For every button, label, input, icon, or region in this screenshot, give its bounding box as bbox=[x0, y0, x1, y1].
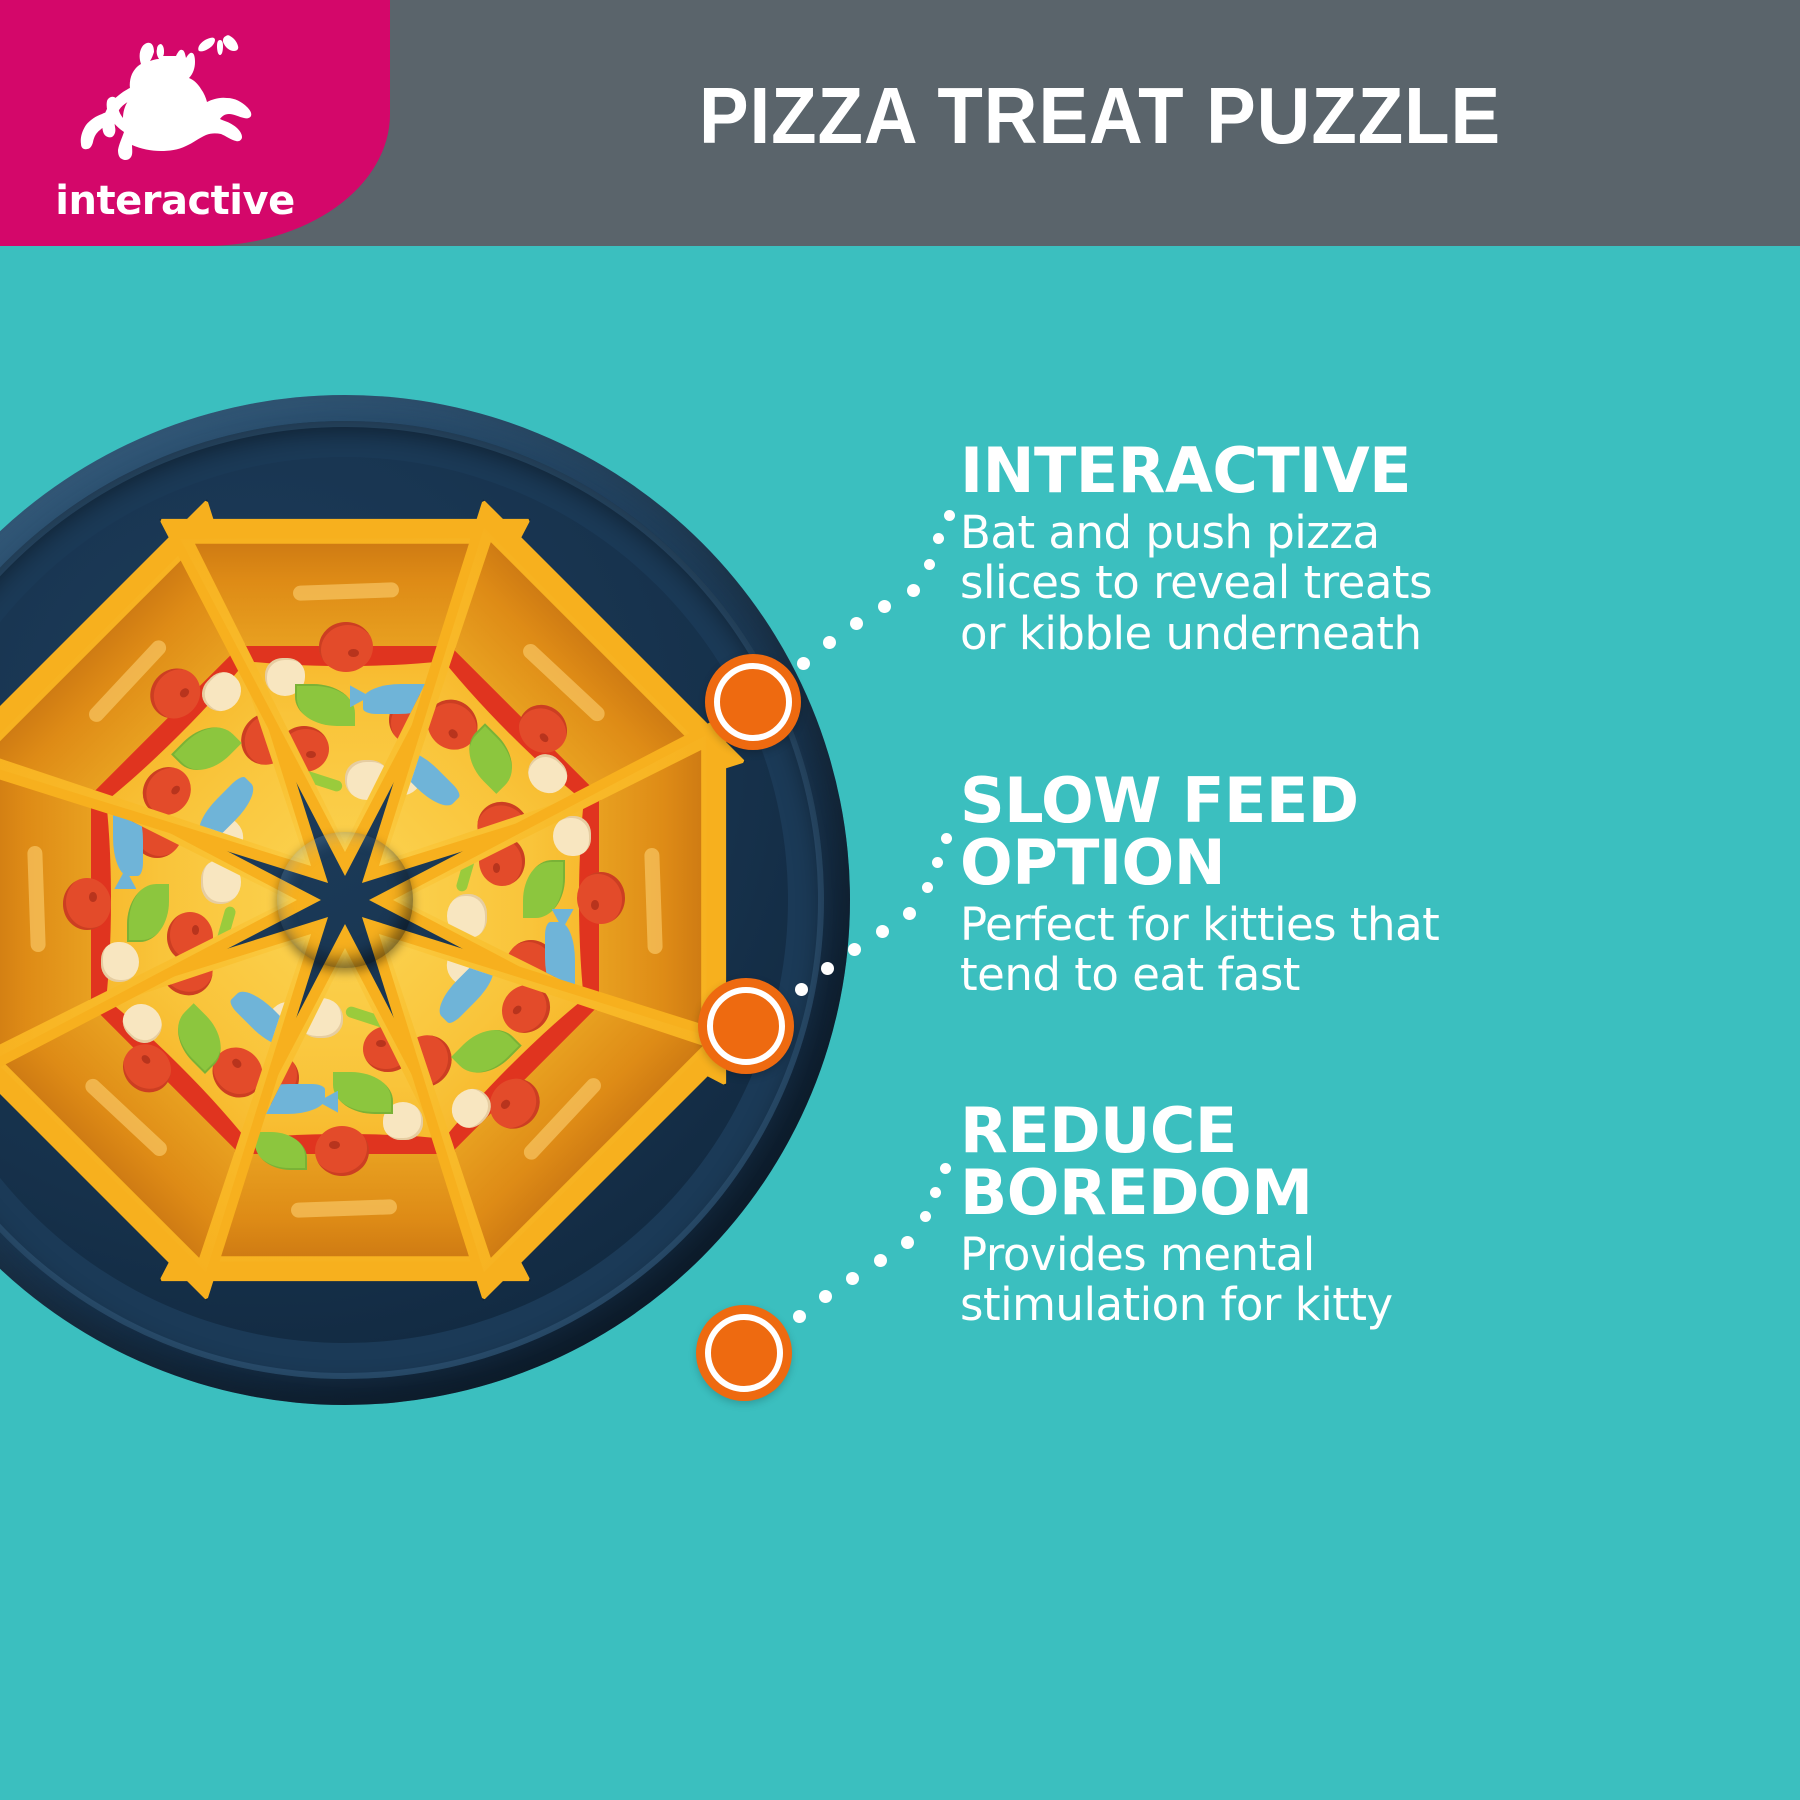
leaping-cat-with-butterfly-icon bbox=[52, 30, 312, 162]
toy-center-hub bbox=[277, 832, 413, 968]
interactive-badge: interactive bbox=[0, 0, 390, 246]
feature-block-slow-feed-option: SLOW FEED OPTION Perfect for kitties tha… bbox=[960, 770, 1480, 1001]
feature-heading: INTERACTIVE bbox=[960, 440, 1480, 502]
product-image-pizza-puzzle bbox=[0, 395, 850, 1405]
feature-marker-3[interactable] bbox=[696, 1305, 792, 1401]
page-title: PIZZA TREAT PUZZLE bbox=[449, 0, 1751, 246]
feature-heading: SLOW FEED OPTION bbox=[960, 770, 1480, 894]
feature-body: Bat and push pizza slices to reveal trea… bbox=[960, 508, 1480, 659]
feature-block-reduce-boredom: REDUCE BOREDOM Provides mental stimulati… bbox=[960, 1100, 1480, 1331]
feature-marker-2[interactable] bbox=[698, 978, 794, 1074]
badge-label: interactive bbox=[0, 178, 350, 224]
infographic-canvas: interactive PIZZA TREAT PUZZLE bbox=[0, 0, 1800, 1800]
feature-body: Provides mental stimulation for kitty bbox=[960, 1230, 1480, 1331]
feature-marker-1[interactable] bbox=[705, 654, 801, 750]
feature-block-interactive: INTERACTIVE Bat and push pizza slices to… bbox=[960, 440, 1480, 659]
feature-heading: REDUCE BOREDOM bbox=[960, 1100, 1480, 1224]
feature-body: Perfect for kitties that tend to eat fas… bbox=[960, 900, 1480, 1001]
header-bar: interactive PIZZA TREAT PUZZLE bbox=[0, 0, 1800, 246]
